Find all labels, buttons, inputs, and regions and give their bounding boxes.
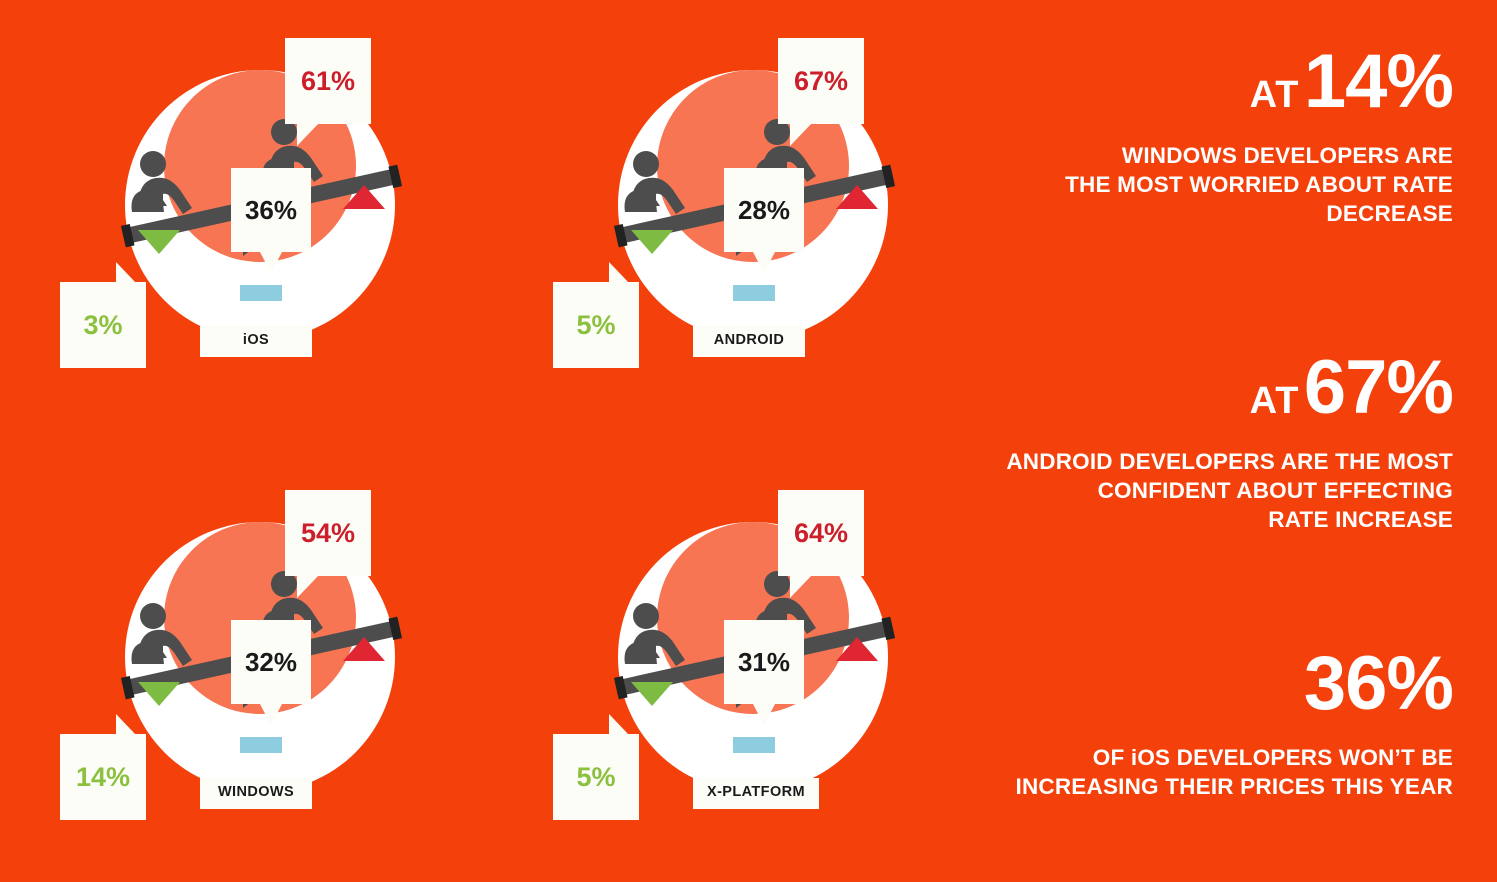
statement-prefix: AT [1250,380,1300,422]
statement-body-line-3: RATE INCREASE [1268,507,1453,532]
arrow-up-icon [836,185,878,209]
callout-tail [790,575,812,598]
arrow-down-icon [631,682,673,706]
neutral-value: 28% [738,195,790,226]
statement-body: WINDOWS DEVELOPERS ARE THE MOST WORRIED … [983,141,1453,229]
statement-windows-decrease: AT 14% WINDOWS DEVELOPERS ARE THE MOST W… [983,46,1453,229]
platform-label: ANDROID [693,326,805,357]
platform-label: X-PLATFORM [693,778,819,809]
callout-tail [116,262,136,283]
callout-tail [297,575,319,598]
plank-cap-left [121,224,135,247]
callout-tail [609,714,629,735]
statement-body: OF iOS DEVELOPERS WON’T BE INCREASING TH… [983,743,1453,802]
statement-body-line-2: INCREASING THEIR PRICES THIS YEAR [1016,774,1454,799]
increase-callout: 67% [778,38,864,124]
platform-panel-android: 67% 28% 5% ANDROID [553,30,993,430]
statement-body-line-1: ANDROID DEVELOPERS ARE THE MOST [1006,449,1453,474]
plank-cap-left [614,676,628,699]
neutral-value: 32% [245,647,297,678]
base-bar [240,737,282,753]
decrease-value: 5% [576,762,615,793]
neutral-callout: 31% [724,620,804,704]
callout-tail [790,123,812,146]
increase-callout: 61% [285,38,371,124]
arrow-up-icon [343,185,385,209]
increase-value: 67% [794,66,848,97]
statement-number: 36% [1304,641,1453,726]
statement-prefix: AT [1250,74,1300,116]
statement-android-increase: AT 67% ANDROID DEVELOPERS ARE THE MOST C… [983,352,1453,535]
callout-tail [609,262,629,283]
statement-number: 67% [1304,345,1453,430]
base-bar [733,737,775,753]
callout-tail [297,123,319,146]
callout-tail [116,714,136,735]
plank-cap-left [614,224,628,247]
arrow-down-icon [631,230,673,254]
decrease-callout: 5% [553,734,639,820]
base-bar [733,285,775,301]
platform-label: WINDOWS [200,778,312,809]
statement-body-line-1: WINDOWS DEVELOPERS ARE [1122,143,1453,168]
statement-body-line-2: CONFIDENT ABOUT EFFECTING [1098,478,1453,503]
neutral-callout: 36% [231,168,311,252]
arrow-down-icon [138,230,180,254]
neutral-callout: 32% [231,620,311,704]
statement-headline: AT 67% [983,352,1453,425]
increase-value: 61% [301,66,355,97]
statement-ios-no-increase: 36% OF iOS DEVELOPERS WON’T BE INCREASIN… [983,648,1453,801]
platform-label: iOS [200,326,312,357]
decrease-value: 5% [576,310,615,341]
neutral-value: 31% [738,647,790,678]
increase-callout: 64% [778,490,864,576]
statement-headline: AT 14% [983,46,1453,119]
callout-tail [753,704,775,725]
callout-tail [753,252,775,273]
increase-callout: 54% [285,490,371,576]
plank-cap-right [881,165,895,188]
plank-cap-right [881,617,895,640]
plank-cap-right [388,165,402,188]
platform-panel-x-platform: 64% 31% 5% X-PLATFORM [553,482,993,882]
decrease-value: 3% [83,310,122,341]
arrow-down-icon [138,682,180,706]
arrow-up-icon [836,637,878,661]
arrow-up-icon [343,637,385,661]
callout-tail [260,704,282,725]
statement-body-line-3: DECREASE [1326,201,1453,226]
callout-tail [260,252,282,273]
decrease-callout: 14% [60,734,146,820]
statement-body: ANDROID DEVELOPERS ARE THE MOST CONFIDEN… [983,447,1453,535]
statement-headline: 36% [983,648,1453,721]
increase-value: 54% [301,518,355,549]
plank-cap-right [388,617,402,640]
decrease-callout: 5% [553,282,639,368]
platform-panel-windows: 54% 32% 14% WINDOWS [60,482,500,882]
plank-cap-left [121,676,135,699]
platform-panel-ios: 61% 36% 3% iOS [60,30,500,430]
decrease-value: 14% [76,762,130,793]
neutral-value: 36% [245,195,297,226]
base-bar [240,285,282,301]
statement-body-line-1: OF iOS DEVELOPERS WON’T BE [1093,745,1453,770]
statement-number: 14% [1304,39,1453,124]
increase-value: 64% [794,518,848,549]
neutral-callout: 28% [724,168,804,252]
statement-body-line-2: THE MOST WORRIED ABOUT RATE [1065,172,1453,197]
decrease-callout: 3% [60,282,146,368]
